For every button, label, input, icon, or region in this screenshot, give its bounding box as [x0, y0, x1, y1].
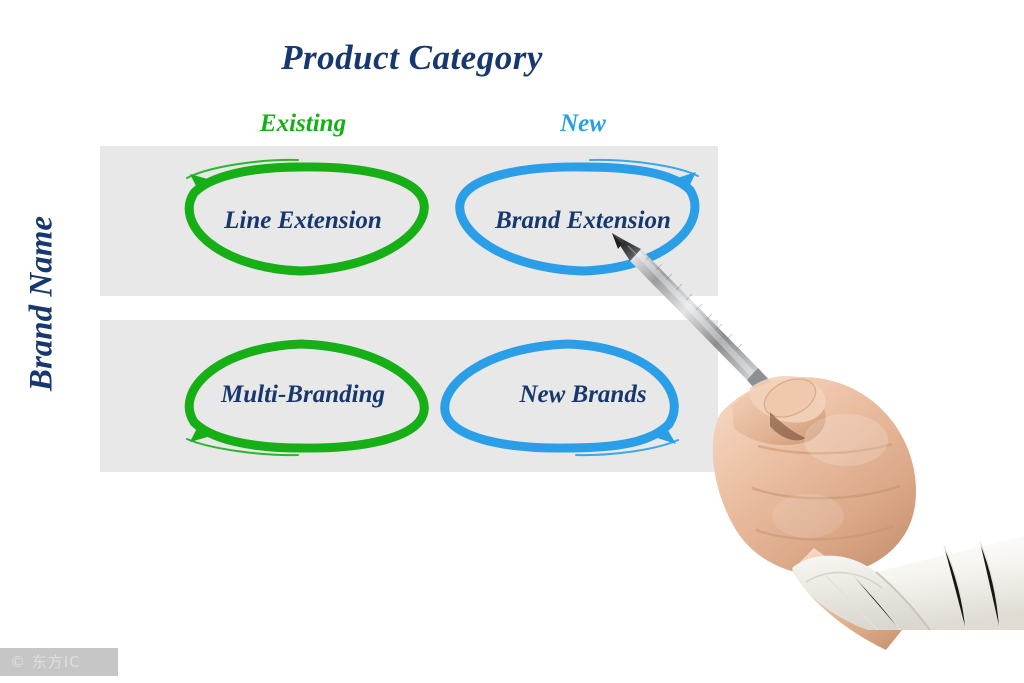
watermark: © 东方IC	[0, 648, 118, 676]
cell-label: Brand Extension	[450, 207, 716, 235]
shirt-sleeve	[792, 536, 1024, 630]
cell-brand-extension[interactable]: Brand Extension	[450, 160, 716, 285]
cell-multi-branding[interactable]: Multi-Branding	[170, 334, 436, 459]
cell-label: Multi-Branding	[170, 381, 436, 409]
cell-line-extension[interactable]: Line Extension	[170, 160, 436, 285]
column-header-existing: Existing	[178, 110, 428, 138]
column-header-new: New	[458, 110, 708, 138]
cell-label: New Brands	[450, 381, 716, 409]
diagram-canvas: Product Category Existing New Brand Name…	[0, 0, 1024, 683]
hand-icon	[713, 371, 918, 650]
cell-new-brands[interactable]: New Brands	[450, 334, 716, 459]
page-title: Product Category	[0, 38, 824, 78]
row-axis-title: Brand Name	[24, 194, 61, 414]
cell-label: Line Extension	[170, 207, 436, 235]
